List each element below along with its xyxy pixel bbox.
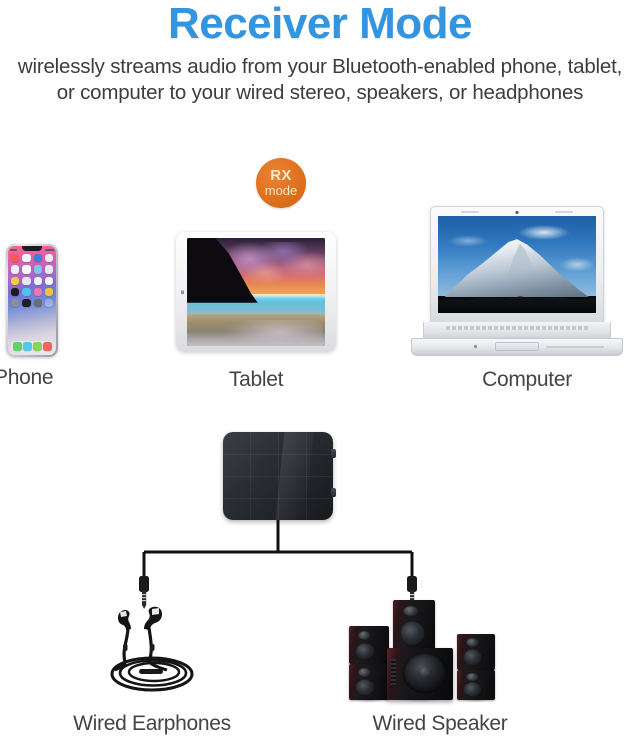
speakers-label: Wired Speaker bbox=[340, 712, 540, 736]
speaker-system-icon bbox=[345, 592, 530, 704]
tablet-icon bbox=[176, 232, 336, 352]
page-title: Receiver Mode bbox=[0, 2, 640, 46]
receiver-highlight bbox=[275, 432, 314, 520]
tablet-body bbox=[176, 232, 336, 352]
phone-label: Phone bbox=[0, 366, 84, 390]
laptop-icon bbox=[411, 206, 623, 356]
laptop-speaker-grill-left bbox=[461, 211, 479, 213]
inline-remote bbox=[139, 669, 163, 674]
laptop-wallpaper-cloud bbox=[441, 233, 495, 249]
receiver-port-aux bbox=[331, 449, 336, 458]
receiver-body bbox=[223, 432, 333, 520]
earphones-label: Wired Earphones bbox=[52, 712, 252, 736]
phone-screen bbox=[8, 246, 56, 355]
laptop-keyboard-keys bbox=[446, 326, 588, 330]
computer-label: Computer bbox=[457, 368, 597, 392]
phone-dock bbox=[11, 341, 53, 352]
laptop-base bbox=[411, 322, 623, 356]
satellite-speaker-rear-left bbox=[349, 664, 389, 700]
satellite-speaker-front-left bbox=[349, 626, 389, 664]
earbud-right bbox=[144, 607, 162, 630]
laptop-front-edge bbox=[411, 338, 623, 356]
header: Receiver Mode wirelessly streams audio f… bbox=[0, 0, 640, 106]
phone-body bbox=[6, 244, 58, 357]
rx-badge-line1: RX bbox=[270, 168, 291, 183]
receiver-port-usb bbox=[331, 488, 336, 497]
laptop-disc-slot bbox=[546, 346, 604, 348]
bluetooth-receiver-device bbox=[223, 432, 333, 520]
rx-badge-line2: mode bbox=[265, 184, 298, 198]
tablet-wallpaper-reflection bbox=[215, 320, 323, 344]
earbud-left bbox=[118, 610, 131, 630]
subwoofer bbox=[387, 648, 453, 700]
tablet-camera-icon bbox=[181, 290, 185, 294]
tablet-label: Tablet bbox=[196, 368, 316, 392]
laptop-speaker-grill-right bbox=[555, 211, 573, 213]
page-subtitle: wirelessly streams audio from your Bluet… bbox=[0, 54, 640, 106]
earphones-drawing bbox=[95, 600, 215, 708]
laptop-lid bbox=[430, 206, 604, 324]
laptop-trackpad bbox=[495, 342, 539, 351]
webcam-icon bbox=[516, 211, 519, 214]
earphones-icon bbox=[95, 600, 215, 708]
laptop-indicator-light bbox=[474, 345, 477, 348]
satellite-speaker-front-right bbox=[457, 634, 495, 670]
satellite-speaker-rear-right bbox=[457, 670, 495, 700]
phone-app-grid bbox=[11, 254, 53, 307]
rx-mode-badge: RX mode bbox=[256, 158, 306, 208]
phone-notch bbox=[22, 246, 42, 251]
laptop-screen bbox=[438, 216, 596, 313]
tablet-screen bbox=[187, 238, 325, 346]
smartphone-icon bbox=[6, 244, 58, 357]
